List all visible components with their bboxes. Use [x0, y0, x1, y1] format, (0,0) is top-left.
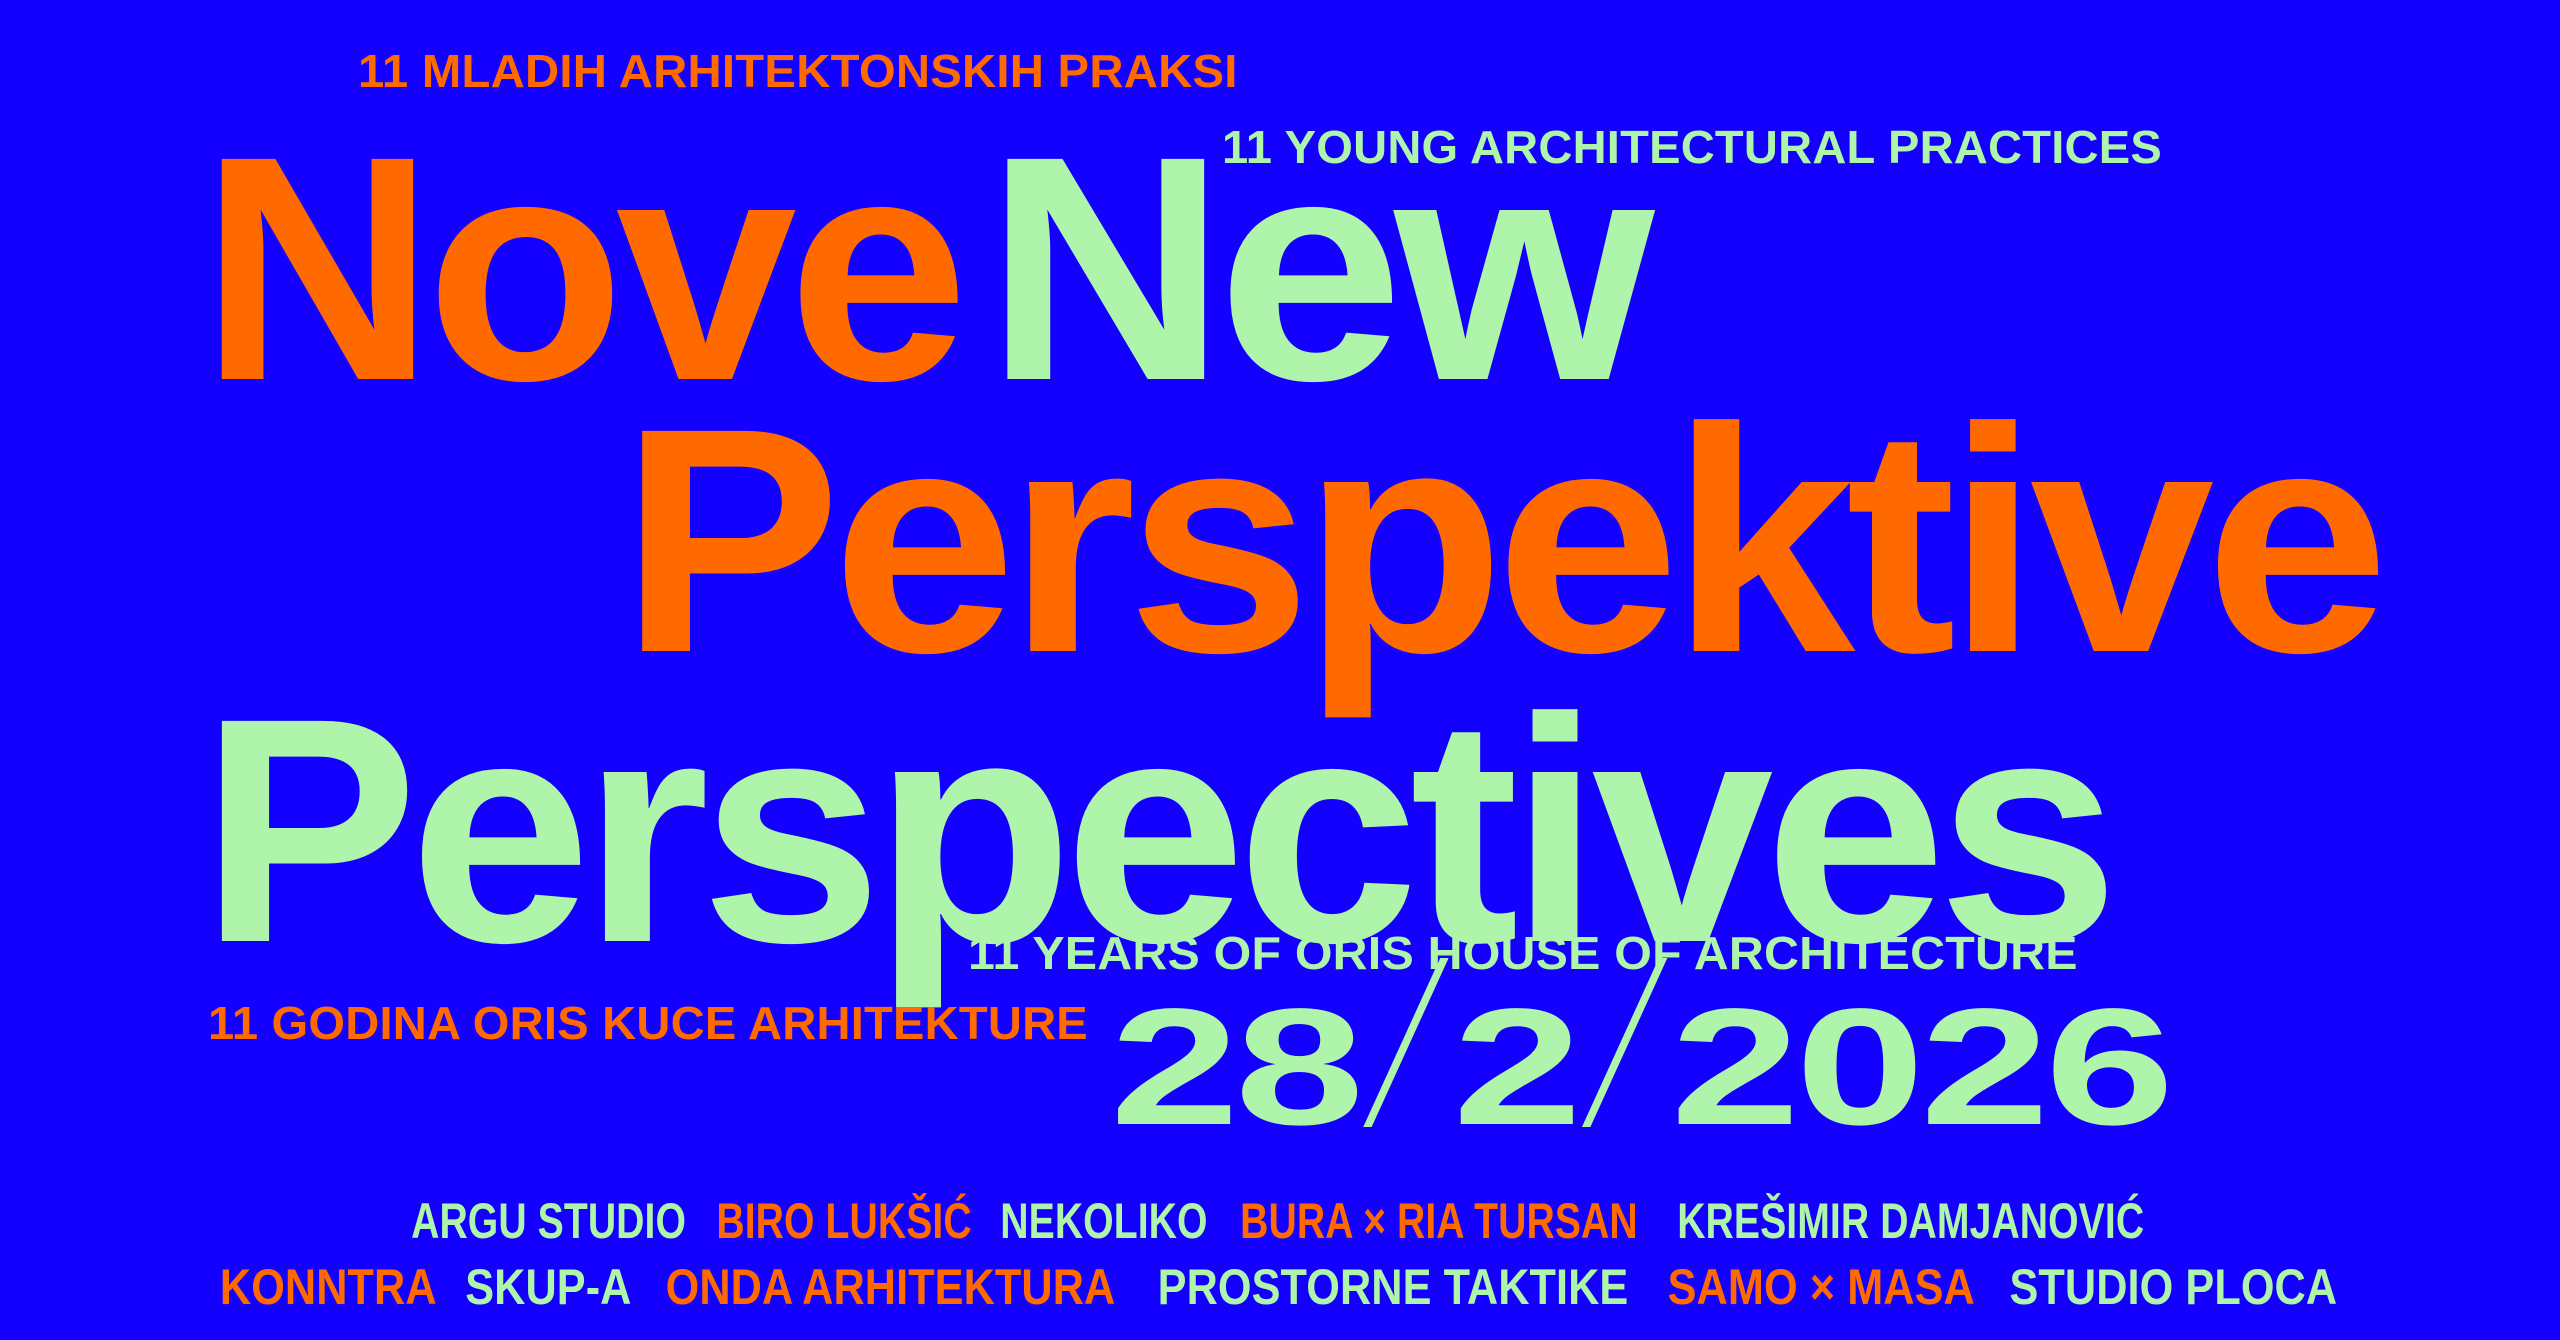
credit-studio-label: ONDA ARHITEKTURA [666, 1258, 1116, 1316]
credit-studio-label: STUDIO PLOCA [2009, 1258, 2337, 1316]
credit-studio: KREŠIMIR DAMJANOVIĆ [1665, 1192, 2157, 1250]
credit-studio: KONNTRA [214, 1258, 442, 1316]
date-month: 2 [1453, 975, 1578, 1160]
credit-studio-label: ARGU STUDIO [411, 1192, 686, 1250]
credit-studio: BURA × RIA TURSAN [1230, 1192, 1648, 1250]
credits-line-1: ARGU STUDIOBIRO LUKŠIĆNEKOLIKOBURA × RIA… [225, 1192, 2335, 1250]
credits-line-2: KONNTRASKUP-AONDA ARHITEKTURAPROSTORNE T… [115, 1258, 2445, 1316]
event-date: 2822026 [1110, 985, 2170, 1151]
poster-canvas: 11 MLADIH ARHITEKTONSKIH PRAKSI 11 YOUNG… [0, 0, 2560, 1340]
kicker-croatian: 11 MLADIH ARHITEKTONSKIH PRAKSI [358, 48, 1238, 94]
credit-studio: SKUP-A [461, 1258, 636, 1316]
credit-studio-label: BIRO LUKŠIĆ [716, 1192, 971, 1250]
anniversary-croatian: 11 GODINA ORIS KUCE ARHITEKTURE [208, 1000, 1088, 1046]
credit-studio-label: KONNTRA [220, 1258, 437, 1316]
date-year: 2026 [1671, 975, 2170, 1160]
credit-studio-label: SKUP-A [465, 1258, 631, 1316]
credit-studio-label: NEKOLIKO [1000, 1192, 1207, 1250]
anniversary-english: 11 YEARS OF ORIS HOUSE OF ARCHITECTURE [968, 930, 2078, 976]
credit-studio: STUDIO PLOCA [2001, 1258, 2346, 1316]
credit-studio: BIRO LUKŠIĆ [710, 1192, 979, 1250]
credit-studio: PROSTORNE TAKTIKE [1145, 1258, 1640, 1316]
credit-studio-label: PROSTORNE TAKTIKE [1158, 1258, 1629, 1316]
credit-studio-label: KREŠIMIR DAMJANOVIĆ [1677, 1192, 2144, 1250]
date-day: 28 [1110, 975, 1360, 1160]
credit-studio: NEKOLIKO [995, 1192, 1213, 1250]
credit-studio: ARGU STUDIO [404, 1192, 693, 1250]
credit-studio-label: BURA × RIA TURSAN [1240, 1192, 1638, 1250]
credit-studio: SAMO × MASA [1659, 1258, 1982, 1316]
credit-studio: ONDA ARHITEKTURA [654, 1258, 1127, 1316]
credit-studio-label: SAMO × MASA [1667, 1258, 1974, 1316]
